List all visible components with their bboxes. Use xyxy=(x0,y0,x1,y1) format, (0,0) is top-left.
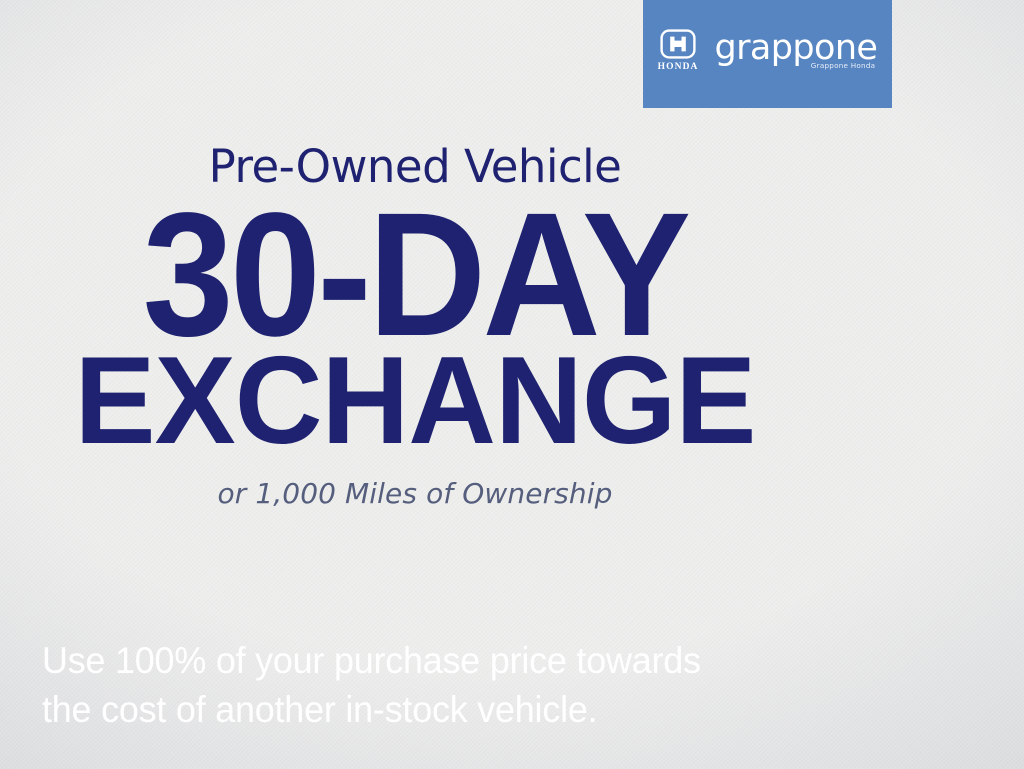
subhead-text: or 1,000 Miles of Ownership xyxy=(0,480,830,508)
body-copy-line-1: Use 100% of your purchase price towards xyxy=(42,636,847,685)
body-copy-line-2: the cost of another in-stock vehicle. xyxy=(42,685,847,734)
headline-secondary: EXCHANGE xyxy=(8,348,821,455)
promotional-banner: HONDA grappone Grappone Honda Pre-Owned … xyxy=(0,0,1024,769)
headline-primary: 30-DAY xyxy=(29,205,801,346)
body-copy: Use 100% of your purchase price towards … xyxy=(42,636,847,734)
headline-block: Pre-Owned Vehicle 30-DAY EXCHANGE or 1,0… xyxy=(0,0,830,508)
